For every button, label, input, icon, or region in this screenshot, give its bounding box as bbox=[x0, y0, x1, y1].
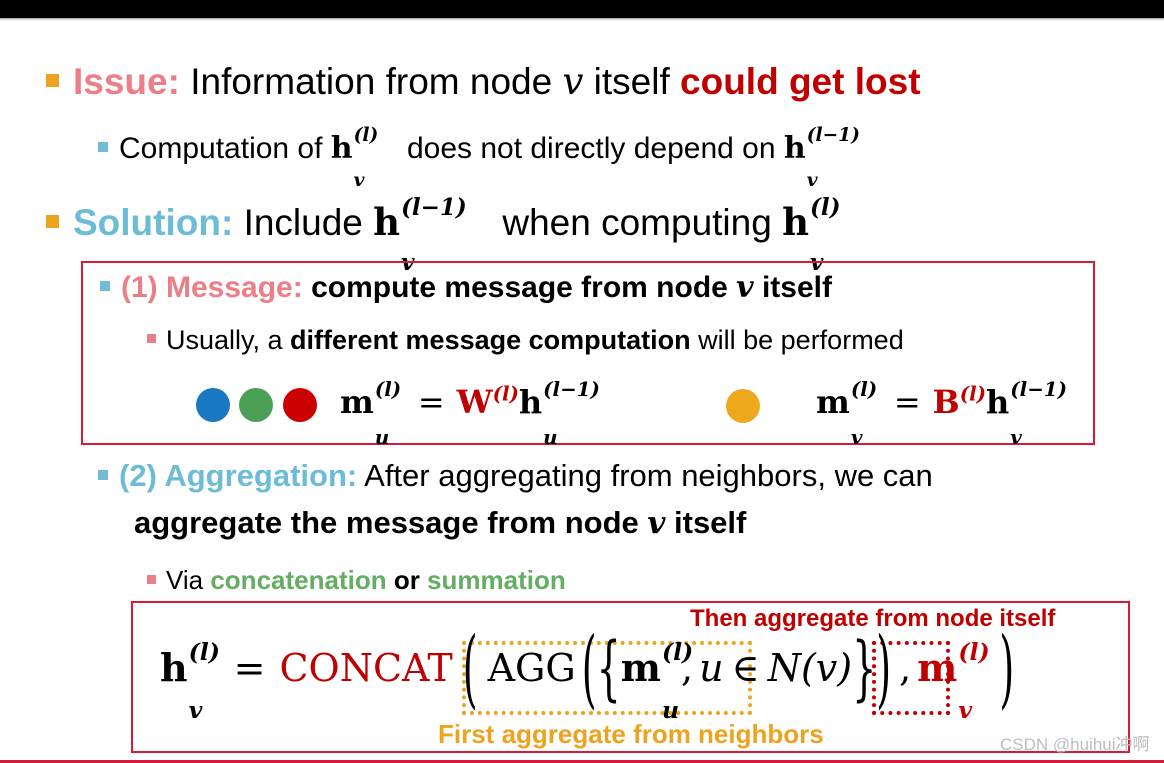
message-heading-var: v bbox=[736, 270, 753, 305]
bullet-issue: Issue: Information from node v itself co… bbox=[46, 60, 921, 103]
solution-h-prev: h(l−1)v bbox=[373, 200, 446, 244]
solution-h-current: h(l)v bbox=[782, 200, 833, 244]
computation-text-a: Computation of bbox=[119, 132, 331, 165]
message-sub-text-b: will be performed bbox=[691, 325, 904, 355]
aggregation-via-line: Via concatenation or summation bbox=[147, 565, 566, 596]
main-formula-brace-close: } bbox=[852, 627, 876, 708]
aggregation-line2-b: itself bbox=[665, 505, 746, 540]
node-dot-group-right bbox=[726, 389, 760, 423]
bullet-solution: Solution: Include h(l−1)v when computing… bbox=[46, 200, 833, 244]
annot-bottom-text: First aggregate from neighbors bbox=[438, 719, 824, 749]
bullet-square-salmon-2 bbox=[147, 575, 156, 584]
via-or: or bbox=[387, 565, 427, 595]
message-heading-tail: itself bbox=[754, 271, 832, 304]
message-formula-right: m(l)v=B(l)h(l−1)v bbox=[816, 383, 1049, 421]
main-formula-m-u: m(l)u bbox=[621, 645, 681, 690]
slide-canvas: Issue: Information from node v itself co… bbox=[0, 0, 1164, 763]
blue-node-dot bbox=[196, 388, 230, 422]
red-node-dot bbox=[283, 388, 317, 422]
bullet-square-blue-2 bbox=[100, 281, 110, 291]
message-sub-text-a: Usually, a bbox=[166, 325, 290, 355]
message-sub-emphasis: different message computation bbox=[290, 325, 691, 355]
main-formula-neighborhood: N(v) bbox=[768, 646, 852, 690]
formula-right-matrix: B(l) bbox=[933, 383, 986, 421]
main-formula-lhs: h(l)v bbox=[160, 645, 208, 690]
message-heading: (1) Message: compute message from node v… bbox=[100, 270, 832, 305]
via-concatenation: concatenation bbox=[210, 565, 386, 595]
solution-label: Solution: bbox=[73, 202, 233, 243]
computation-h-current: h(l)v bbox=[331, 131, 377, 166]
computation-h-prev: h(l−1)v bbox=[784, 131, 852, 166]
csdn-watermark: CSDN @huihui冲啊 bbox=[1000, 730, 1150, 755]
top-divider-line bbox=[0, 18, 1164, 21]
main-formula-paren-close: ) bbox=[999, 619, 1014, 718]
aggregation-heading-line2: aggregate the message from node v itself bbox=[134, 505, 746, 541]
main-formula-m-v: m(l)v bbox=[917, 645, 977, 690]
formula-right-rhs: h(l−1)v bbox=[986, 383, 1049, 421]
formula-left-lhs: m(l)u bbox=[340, 383, 394, 421]
message-label: (1) Message: bbox=[121, 271, 303, 304]
aggregation-heading-text: After aggregating from neighbors, we can bbox=[357, 458, 933, 493]
formula-annot-bottom: First aggregate from neighbors bbox=[438, 719, 824, 750]
main-formula-concat: CONCAT bbox=[279, 646, 452, 690]
bullet-computation: Computation of h(l)v does not directly d… bbox=[98, 131, 852, 166]
green-node-dot bbox=[239, 388, 273, 422]
main-formula-brace-open: { bbox=[597, 627, 621, 708]
node-dot-group-left bbox=[196, 388, 317, 422]
aggregation-heading-line1: (2) Aggregation: After aggregating from … bbox=[98, 458, 933, 494]
main-formula-agg: AGG bbox=[488, 646, 576, 690]
main-formula-eq: = bbox=[234, 646, 266, 690]
main-formula-paren-open: ( bbox=[463, 619, 478, 718]
message-heading-text: compute message from node bbox=[303, 271, 736, 304]
solution-text-a: Include bbox=[233, 202, 373, 243]
formula-right-eq: = bbox=[894, 383, 921, 421]
issue-text-b: itself bbox=[583, 61, 680, 102]
via-text-a: Via bbox=[166, 565, 210, 595]
main-formula-inner-paren-open: ( bbox=[582, 619, 597, 718]
issue-text-a: Information from node bbox=[180, 61, 563, 102]
solution-text-b: when computing bbox=[492, 202, 782, 243]
aggregation-line2-var: v bbox=[647, 505, 665, 541]
issue-emphasis: could get lost bbox=[680, 61, 921, 102]
formula-left-matrix: W(l) bbox=[457, 383, 519, 421]
bullet-square-orange bbox=[46, 74, 59, 87]
top-black-bar bbox=[0, 0, 1164, 18]
formula-left-eq: = bbox=[418, 383, 445, 421]
main-formula-inner-paren-close: ) bbox=[876, 619, 891, 718]
message-subbullet: Usually, a different message computation… bbox=[147, 325, 904, 356]
main-formula: h(l)v=CONCAT(AGG({m(l)u,u∈N(v)}),m(l)v) bbox=[160, 645, 1014, 690]
bullet-square-orange-2 bbox=[46, 215, 59, 228]
bullet-square-salmon bbox=[147, 334, 156, 343]
main-formula-comma2: , bbox=[899, 646, 911, 690]
aggregation-line2-a: aggregate the message from node bbox=[134, 505, 647, 540]
main-formula-var-u: u bbox=[699, 646, 723, 690]
via-summation: summation bbox=[427, 565, 566, 595]
formula-right-lhs: m(l)v bbox=[816, 383, 870, 421]
computation-text-b: does not directly depend on bbox=[399, 132, 784, 165]
bullet-square-blue bbox=[98, 142, 108, 152]
message-formula-left: m(l)u=W(l)h(l−1)u bbox=[340, 383, 582, 421]
issue-var-v: v bbox=[562, 60, 583, 103]
issue-label: Issue: bbox=[73, 61, 180, 102]
bullet-square-blue-3 bbox=[98, 470, 108, 480]
formula-left-rhs: h(l−1)u bbox=[519, 383, 582, 421]
main-formula-in: ∈ bbox=[732, 646, 760, 690]
orange-node-dot bbox=[726, 389, 760, 423]
aggregation-label: (2) Aggregation: bbox=[119, 458, 357, 493]
